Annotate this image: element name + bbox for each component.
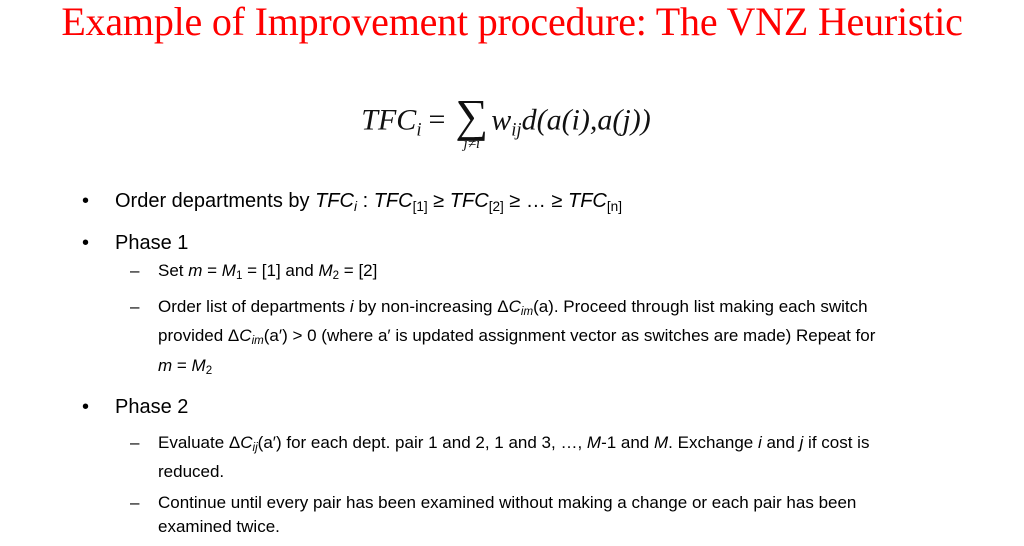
frag-b3-sub-im: im [521, 306, 533, 318]
formula-distance-symbol: d [522, 103, 537, 136]
tfc-formula: TFCi=∑j≠iwijd(a(i),a(j)) [361, 96, 650, 149]
bullet-marker: • [82, 394, 89, 421]
frag-b1-pre: Order departments by [115, 190, 315, 212]
bullet-set-m-text: Set m = M1 = [1] and M2 = [2] [158, 259, 1024, 288]
dash-marker: – [130, 295, 139, 319]
bullet-order-departments-text: Order departments by TFCi : TFC[1] ≥ TFC… [115, 188, 1024, 220]
frag-b2-M: M [222, 261, 236, 280]
formula-weight-subscript: ij [511, 119, 521, 140]
frag-b3-mid: by non-increasing Δ [354, 297, 509, 316]
slide-body-list: • Order departments by TFCi : TFC[1] ≥ T… [0, 188, 1024, 546]
frag-b4-mid: (a′) for each dept. pair 1 and 2, 1 and … [258, 433, 587, 452]
frag-b3-sub-2: 2 [206, 365, 212, 377]
bullet-phase-2-text: Phase 2 [115, 394, 1024, 421]
frag-b2-pre: Set [158, 261, 188, 280]
frag-b4-M1: M [587, 433, 601, 452]
formula-weight-symbol: w [491, 103, 511, 136]
frag-b1-sub-1: [1] [413, 199, 428, 214]
frag-b4-M2: M [654, 433, 668, 452]
frag-b1-tfc-1: TFC [374, 190, 413, 212]
dash-marker: – [130, 431, 139, 455]
frag-b4-exch: . Exchange [668, 433, 758, 452]
bullet-evaluate-pairs: – Evaluate ΔCij(a′) for each dept. pair … [0, 431, 1024, 484]
frag-b2-eq1: = [202, 261, 221, 280]
frag-b3-pre: Order list of departments [158, 297, 350, 316]
frag-b1-tfc-2: TFC [450, 190, 489, 212]
frag-b1-tfc-n: TFC [568, 190, 607, 212]
frag-b3-M: M [192, 356, 206, 375]
frag-b2-eq3: = [2] [339, 261, 377, 280]
bullet-evaluate-pairs-text: Evaluate ΔCij(a′) for each dept. pair 1 … [158, 431, 904, 484]
frag-b4-C: C [240, 433, 252, 452]
bullet-phase-1-text: Phase 1 [115, 230, 1024, 257]
frag-b1-sub-n: [n] [607, 199, 622, 214]
bullet-set-m: – Set m = M1 = [1] and M2 = [2] [0, 259, 1024, 288]
bullet-continue-until-text: Continue until every pair has been exami… [158, 491, 904, 539]
frag-b3-rest: (a′) > 0 (where a′ is updated assignment… [264, 326, 876, 345]
formula-lhs-symbol: TFC [361, 103, 416, 136]
frag-b1-sub-2: [2] [489, 199, 504, 214]
bullet-marker: • [82, 188, 89, 215]
frag-b1-tfc: TFC [315, 190, 354, 212]
frag-b1-colon: : [357, 190, 374, 212]
frag-b3-sub-im2: im [252, 336, 264, 348]
formula-distance-args: (a(i),a(j)) [537, 103, 651, 136]
dash-marker: – [130, 259, 139, 283]
frag-b3-C2: C [239, 326, 251, 345]
formula-lhs-subscript: i [416, 119, 421, 140]
page-title: Example of Improvement procedure: The VN… [0, 0, 1024, 44]
frag-b2-eq2: = [1] and [242, 261, 318, 280]
bullet-continue-until: – Continue until every pair has been exa… [0, 491, 1024, 539]
bullet-phase-2: • Phase 2 [0, 394, 1024, 421]
bullet-phase-1: • Phase 1 [0, 230, 1024, 257]
bullet-order-list: – Order list of departments i by non-inc… [0, 295, 1024, 383]
frag-b2-M2: M [318, 261, 332, 280]
summation-operator: ∑j≠i [455, 99, 488, 152]
formula-equals: = [429, 103, 446, 136]
frag-b4-and: and [762, 433, 800, 452]
dash-marker: – [130, 491, 139, 515]
bullet-order-list-text: Order list of departments i by non-incre… [158, 295, 894, 383]
frag-b2-m: m [188, 261, 202, 280]
bullet-order-departments: • Order departments by TFCi : TFC[1] ≥ T… [0, 188, 1024, 220]
sigma-icon: ∑ [455, 99, 488, 133]
frag-b4-minus1: -1 and [601, 433, 654, 452]
formula-block: TFCi=∑j≠iwijd(a(i),a(j)) [0, 96, 1024, 149]
frag-b3-m: m [158, 356, 172, 375]
frag-b1-ge2: ≥ … ≥ [504, 190, 568, 212]
bullet-marker: • [82, 230, 89, 257]
frag-b4-pre: Evaluate Δ [158, 433, 240, 452]
frag-b1-ge1: ≥ [428, 190, 450, 212]
frag-b3-eq: = [172, 356, 191, 375]
frag-b3-C: C [509, 297, 521, 316]
